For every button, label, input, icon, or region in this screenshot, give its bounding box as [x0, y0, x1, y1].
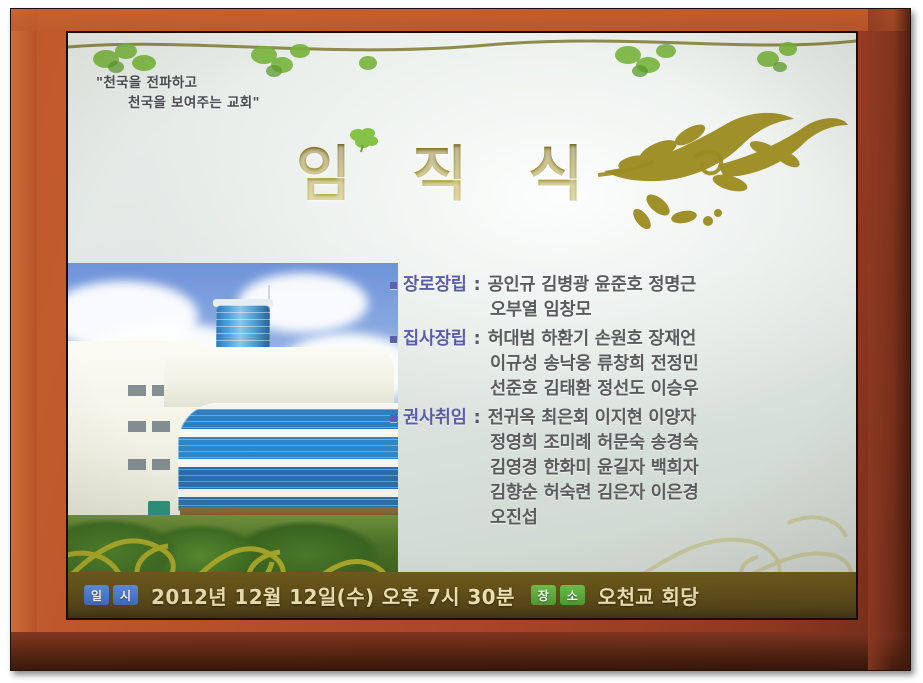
window	[128, 459, 146, 470]
names-line: 김향순 허숙련 김은자 이은경	[490, 481, 850, 506]
slogan-line-1: "천국을 전파하고	[96, 75, 197, 91]
square-bullet-icon	[390, 415, 397, 422]
window	[128, 421, 146, 432]
page-title: 임 직 식	[296, 139, 656, 211]
separator: :	[474, 406, 481, 431]
list-item: 집사장립 : 허대범 하환기 손원호 장재언 이규성 송낙웅 류창희 전정민 선…	[390, 327, 850, 402]
window	[128, 385, 146, 396]
category-label: 장로장립	[403, 273, 467, 298]
separator: :	[474, 327, 481, 352]
category-label: 권사취임	[403, 406, 467, 431]
square-bullet-icon	[390, 282, 397, 289]
names-line: 이규성 송낙웅 류창희 전정민	[490, 352, 850, 377]
frame-bevel-top	[11, 9, 910, 31]
window	[152, 459, 170, 470]
names-line: 공인규 김병광 윤준호 정명근	[488, 273, 696, 298]
place-tag-1: 장	[531, 585, 556, 605]
date-tag-2: 시	[113, 585, 138, 605]
projection-slide: "천국을 전파하고 천국을 보여주는 교회" 임 직 식 장로장립 : 공인규 …	[68, 33, 856, 618]
place-tag-2: 소	[560, 585, 585, 605]
framed-photo: "천국을 전파하고 천국을 보여주는 교회" 임 직 식 장로장립 : 공인규 …	[0, 0, 923, 683]
list-item: 권사취임 : 전귀옥 최은회 이지현 이양자 정영희 조미례 허문숙 송경숙 김…	[390, 406, 850, 531]
names-line: 전귀옥 최은회 이지현 이양자	[488, 406, 696, 431]
category-label: 집사장립	[403, 327, 467, 352]
date-tag-1: 일	[84, 585, 109, 605]
list-item: 장로장립 : 공인규 김병광 윤준호 정명근 오부열 임창모	[390, 273, 850, 323]
event-datetime: 2012년 12월 12일(수) 오후 7시 30분	[151, 581, 515, 610]
frame-bevel-bottom	[11, 632, 910, 671]
slogan-line-2: 천국을 보여주는 교회"	[128, 93, 416, 113]
event-info-bar: 일 시 2012년 12월 12일(수) 오후 7시 30분 장 소 오천교 회…	[68, 572, 856, 618]
names-line: 오부열 임창모	[490, 298, 850, 323]
names-line: 정영희 조미례 허문숙 송경숙	[490, 431, 850, 456]
names-line: 오진섭	[490, 506, 850, 531]
names-line: 허대범 하환기 손원호 장재언	[488, 327, 696, 352]
window	[152, 421, 170, 432]
frame-bevel-right	[868, 9, 910, 670]
church-slogan: "천국을 전파하고 천국을 보여주는 교회"	[96, 73, 416, 113]
square-bullet-icon	[390, 336, 397, 343]
facade-upper-curve	[164, 347, 394, 407]
separator: :	[474, 273, 481, 298]
names-line: 선준호 김태환 정선도 이승우	[490, 377, 850, 402]
event-place: 오천교 회당	[598, 581, 699, 610]
frame-bevel-left	[11, 9, 37, 670]
ordination-list: 장로장립 : 공인규 김병광 윤준호 정명근 오부열 임창모 집사장립 : 허대…	[390, 273, 850, 535]
names-line: 김영경 한화미 윤길자 백희자	[490, 456, 850, 481]
